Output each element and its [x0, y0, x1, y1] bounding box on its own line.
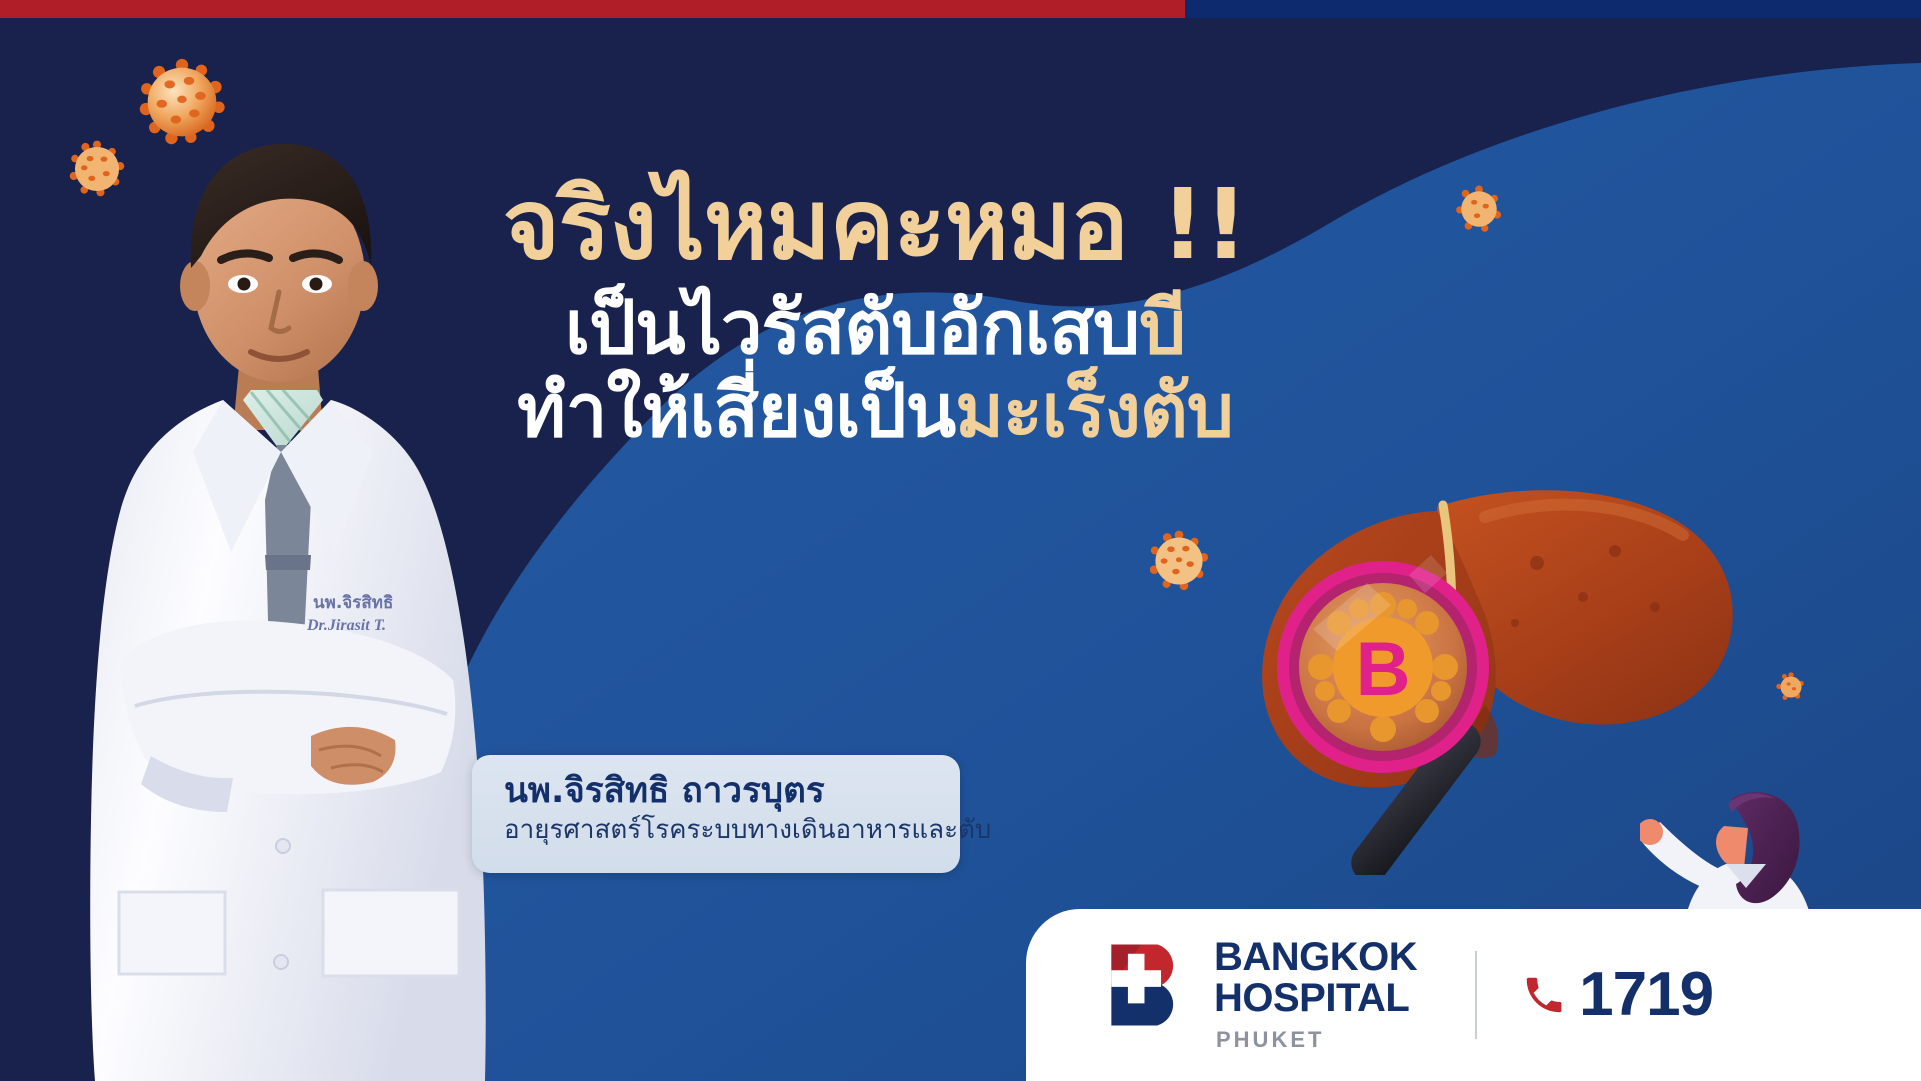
logo-brand-line-1: BANGKOK — [1214, 937, 1417, 978]
bangkok-hospital-logo: BANGKOK HOSPITAL PHUKET — [1104, 937, 1417, 1053]
hotline-number: 1719 — [1579, 964, 1713, 1026]
top-bar-red-segment — [0, 0, 1185, 18]
headline-line-1: จริงไหมคะหมอ !! — [470, 175, 1280, 276]
coat-embroidery-thai: นพ.จิรสิทธิ — [313, 593, 393, 613]
headline-group: จริงไหมคะหมอ !! เป็นไวรัสตับอักเสบบี ทำใ… — [470, 175, 1280, 450]
coat-embroidery-latin: Dr.Jirasit T. — [306, 617, 386, 634]
doctor-specialty: อายุรศาสตร์โรคระบบทางเดินอาหารและตับ — [504, 814, 960, 847]
headline-line-2: เป็นไวรัสตับอักเสบบี — [470, 290, 1280, 367]
top-bar-navy-segment — [1185, 0, 1921, 18]
virus-particle-icon — [1776, 672, 1806, 702]
headline-line-3: ทำให้เสี่ยงเป็นมะเร็งตับ — [470, 373, 1280, 450]
top-accent-bar — [0, 0, 1921, 18]
logo-brand-line-2: HOSPITAL — [1214, 978, 1417, 1019]
logo-wordmark: BANGKOK HOSPITAL PHUKET — [1214, 937, 1417, 1053]
headline-line-2-white: เป็นไวรัสตับอักเสบ — [565, 285, 1139, 371]
headline-line-3-white: ทำให้เสี่ยงเป็น — [517, 368, 955, 454]
logo-divider — [1475, 951, 1477, 1039]
magnifier-letter-b: B — [1356, 627, 1411, 712]
bangkok-hospital-mark-icon — [1104, 939, 1196, 1031]
doctor-name-card: นพ.จิรสิทธิ ถาวรบุตร อายุรศาสตร์โรคระบบท… — [472, 755, 960, 873]
promo-banner: นพ.จิรสิทธิ Dr.Jirasit T. จริงไหมคะหมอ !… — [0, 0, 1921, 1081]
doctor-portrait-photo: นพ.จิรสิทธิ Dr.Jirasit T. — [55, 100, 525, 1081]
virus-particle-icon — [1455, 185, 1503, 233]
headline-line-3-cream: มะเร็งตับ — [955, 368, 1233, 454]
headline-line-2-cream: บี — [1139, 285, 1185, 371]
doctor-name: นพ.จิรสิทธิ ถาวรบุตร — [504, 771, 960, 812]
phone-icon — [1521, 972, 1567, 1018]
logo-location: PHUKET — [1216, 1027, 1417, 1053]
logo-panel: BANGKOK HOSPITAL PHUKET 1719 — [1026, 909, 1921, 1081]
hotline-group[interactable]: 1719 — [1521, 964, 1713, 1026]
